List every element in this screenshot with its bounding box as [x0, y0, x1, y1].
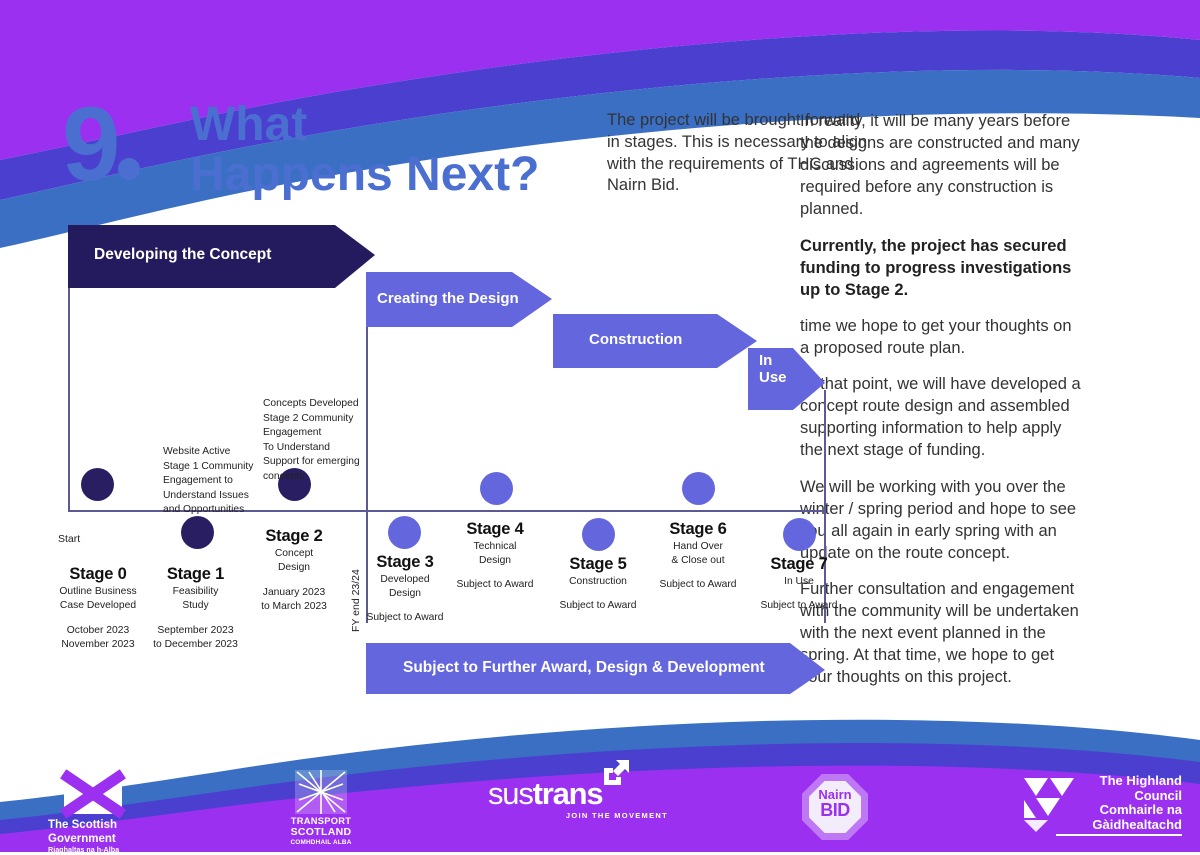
highland-council-line3: Comhairle na [1080, 803, 1182, 818]
logo-nairn-bid: Nairn BID [796, 770, 876, 844]
footer-logo-strip: The Scottish Government Riaghaltas na h-… [0, 762, 1200, 852]
banner-bottom-label: Subject to Further Award, Design & Devel… [403, 659, 765, 677]
highland-council-rule [1056, 834, 1182, 836]
dot-stage-7 [783, 518, 816, 551]
stage-label-4: Stage 4 Technical Design Subject to Awar… [440, 520, 550, 590]
stage-6-sub: Hand Over & Close out [643, 540, 753, 568]
stage-4-status: Subject to Award [440, 579, 550, 590]
stage-0-sub2: Case Developed [60, 600, 136, 611]
stage-4-sub2: Design [479, 555, 511, 566]
stage-label-2: Stage 2 Concept Design January 2023 to M… [238, 527, 350, 614]
stage-1-date: September 2023 to December 2023 [138, 624, 253, 652]
dot-stage-1 [181, 516, 214, 549]
stage-2-sub2: Design [278, 562, 310, 573]
stage-1-sub1: Feasibility [173, 586, 219, 597]
stage-0-date2: November 2023 [61, 639, 134, 650]
logo-scottish-government: The Scottish Government Riaghaltas na h-… [48, 774, 198, 855]
stage-3-sub1: Developed [380, 574, 429, 585]
sustrans-wordmark: sustrans [488, 778, 668, 809]
banner-creating-the-design-label: Creating the Design [377, 290, 519, 307]
stage-6-status: Subject to Award [643, 579, 753, 590]
stage-label-5: Stage 5 Construction Subject to Award [543, 555, 653, 611]
banner-in-use-label: In Use [759, 353, 787, 387]
transport-scotland-line1: TRANSPORT [278, 816, 364, 827]
transport-scotland-text: TRANSPORT SCOTLAND COMHDHAIL ALBA [278, 816, 364, 846]
stage-2-date1: January 2023 [263, 587, 325, 598]
scottish-government-text: The Scottish Government Riaghaltas na h-… [48, 818, 198, 855]
stage-1-name: Stage 1 [138, 565, 253, 584]
dot-stage-0 [81, 468, 114, 501]
dot-stage-4 [480, 472, 513, 505]
banner-in-use-line1: In [759, 353, 787, 370]
stage-5-status: Subject to Award [543, 600, 653, 611]
stage-1-date1: September 2023 [157, 625, 233, 636]
highland-council-line4: Gàidhealtachd [1080, 818, 1182, 833]
note-stage-1-l4: Understand Issues [163, 489, 293, 504]
sustrans-arrow-icon [600, 758, 632, 788]
stage-2-sub: Concept Design [238, 547, 350, 575]
highland-council-triangles-icon [1022, 776, 1076, 832]
note-stage-1-l5: and Opportunities [163, 503, 293, 518]
logo-sustrans: sustrans JOIN THE MOVEMENT [488, 778, 668, 820]
stage-1-sub: Feasibility Study [138, 585, 253, 613]
stage-timeline-diagram: Developing the Concept Creating the Desi… [0, 0, 860, 720]
stage-7-sub: In Use [744, 575, 854, 589]
banner-developing-the-concept-label: Developing the Concept [94, 246, 271, 264]
sustrans-word-light: sus [488, 776, 533, 811]
stage-6-name: Stage 6 [643, 520, 753, 539]
marker-start-label: Start [58, 533, 80, 545]
stage-5-name: Stage 5 [543, 555, 653, 574]
stage-4-name: Stage 4 [440, 520, 550, 539]
note-stage-2-l4: To Understand [263, 441, 399, 456]
highland-council-line2: Council [1080, 789, 1182, 804]
stage-6-sub1: Hand Over [673, 541, 723, 552]
stage-2-sub1: Concept [275, 548, 313, 559]
scottish-government-line1: The Scottish [48, 818, 198, 832]
transport-scotland-mark-icon [291, 770, 351, 814]
highland-council-text: The Highland Council Comhairle na Gàidhe… [1080, 774, 1182, 832]
transport-scotland-line2: SCOTLAND [278, 827, 364, 839]
stage-5-sub: Construction [543, 575, 653, 589]
dot-stage-5 [582, 518, 615, 551]
highland-council-line1: The Highland [1080, 774, 1182, 789]
note-stage-2-l3: Engagement [263, 426, 399, 441]
note-stage-2-l6: concepts [263, 470, 399, 485]
stage-2-date: January 2023 to March 2023 [238, 586, 350, 614]
dot-stage-3 [388, 516, 421, 549]
stage-1-date2: to December 2023 [153, 639, 238, 650]
stage-0-date1: October 2023 [67, 625, 129, 636]
stage-7-name: Stage 7 [744, 555, 854, 574]
stage-4-sub1: Technical [474, 541, 517, 552]
stage-label-7: Stage 7 In Use Subject to Award [744, 555, 854, 611]
stage-label-1: Stage 1 Feasibility Study September 2023… [138, 565, 253, 652]
stage-label-6: Stage 6 Hand Over & Close out Subject to… [643, 520, 753, 590]
stage-2-date2: to March 2023 [261, 601, 327, 612]
note-stage-2: Concepts Developed Stage 2 Community Eng… [263, 397, 399, 485]
note-stage-2-l2: Stage 2 Community [263, 412, 399, 427]
note-stage-2-l5: Support for emerging [263, 455, 399, 470]
nairn-bid-text: Nairn BID [809, 788, 861, 819]
sustrans-word-bold: trans [533, 776, 603, 811]
banner-construction-label: Construction [589, 331, 682, 348]
stage-7-sub1: In Use [784, 576, 814, 587]
axis-vertical-start [68, 288, 70, 511]
transport-scotland-line3: COMHDHAIL ALBA [278, 839, 364, 846]
scottish-government-line2: Government [48, 832, 198, 846]
saltire-flag-icon [64, 774, 122, 814]
dot-stage-6 [682, 472, 715, 505]
stage-1-sub2: Study [182, 600, 208, 611]
scottish-government-gaelic: Riaghaltas na h-Alba [48, 846, 198, 855]
stage-3-sub2: Design [389, 588, 421, 599]
logo-transport-scotland: TRANSPORT SCOTLAND COMHDHAIL ALBA [278, 770, 364, 846]
stage-6-sub2: & Close out [671, 555, 724, 566]
note-stage-2-l1: Concepts Developed [263, 397, 399, 412]
poster-root: 9 What Happens Next? The project will be… [0, 0, 1200, 852]
stage-5-sub1: Construction [569, 576, 627, 587]
banner-in-use-line2: Use [759, 370, 787, 387]
sustrans-tagline: JOIN THE MOVEMENT [488, 811, 668, 820]
stage-2-name: Stage 2 [238, 527, 350, 546]
stage-0-sub1: Outline Business [59, 586, 136, 597]
stage-7-status: Subject to Award [744, 600, 854, 611]
stage-4-sub: Technical Design [440, 540, 550, 568]
nairn-bid-line2: BID [809, 801, 861, 819]
stage-3-status: Subject to Award [350, 612, 460, 623]
